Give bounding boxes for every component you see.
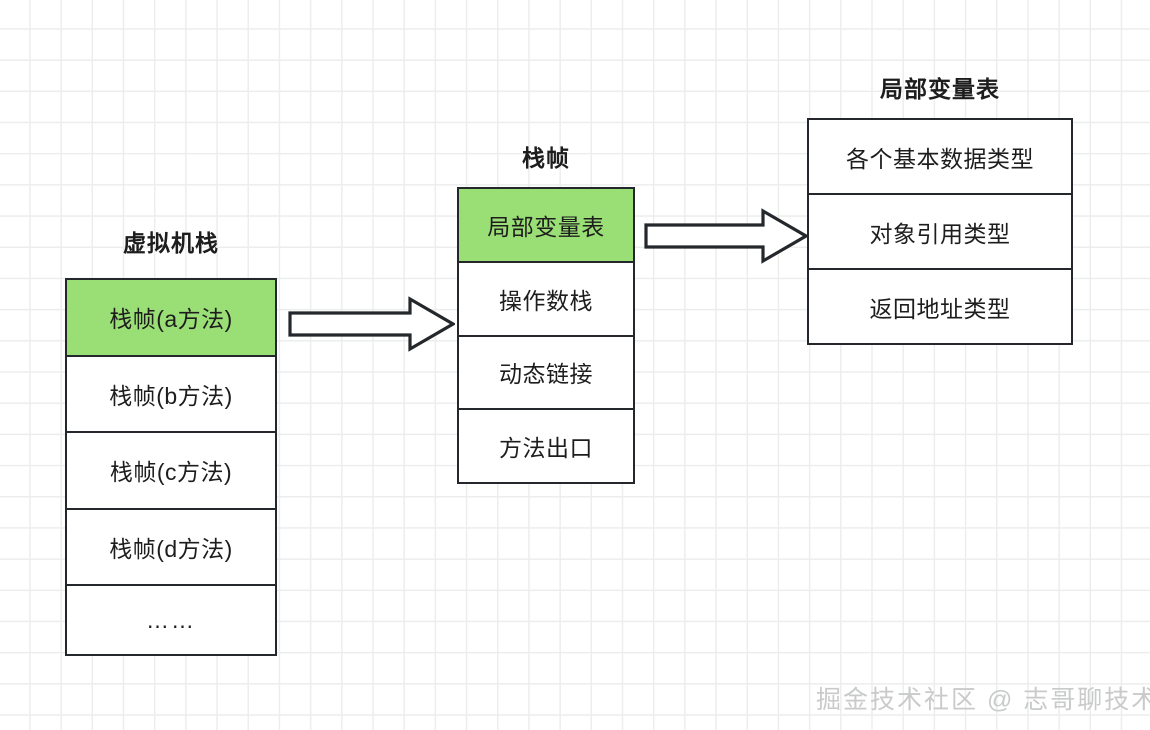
stack-frame-cell-3[interactable]: 方法出口 xyxy=(459,410,633,482)
stack-frame-cell-1[interactable]: 操作数栈 xyxy=(459,263,633,337)
vm-stack-cell-2[interactable]: 栈帧(c方法) xyxy=(67,433,275,510)
watermark: 掘金技术社区 @ 志哥聊技术 xyxy=(816,680,1150,716)
diagram-canvas: 虚拟机栈 栈帧(a方法) 栈帧(b方法) 栈帧(c方法) 栈帧(d方法) …… … xyxy=(0,0,1150,730)
stack-frame-title: 栈帧 xyxy=(457,139,635,173)
stack-frame-box: 局部变量表 操作数栈 动态链接 方法出口 xyxy=(457,187,635,484)
local-var-table-cell-0[interactable]: 各个基本数据类型 xyxy=(809,120,1071,195)
vm-stack-cell-1[interactable]: 栈帧(b方法) xyxy=(67,357,275,434)
vm-stack-cell-4[interactable]: …… xyxy=(67,586,275,654)
local-var-table-title: 局部变量表 xyxy=(807,70,1073,104)
vm-stack-title: 虚拟机栈 xyxy=(65,224,277,258)
vm-stack-cell-0[interactable]: 栈帧(a方法) xyxy=(67,280,275,357)
local-var-table-cell-2[interactable]: 返回地址类型 xyxy=(809,270,1071,343)
local-var-table-cell-1[interactable]: 对象引用类型 xyxy=(809,195,1071,270)
arrow-vmstack-to-frame xyxy=(288,296,455,352)
stack-frame-cell-0[interactable]: 局部变量表 xyxy=(459,189,633,263)
arrow-frame-to-localvartable xyxy=(644,208,808,264)
local-var-table-box: 各个基本数据类型 对象引用类型 返回地址类型 xyxy=(807,118,1073,345)
stack-frame-cell-2[interactable]: 动态链接 xyxy=(459,337,633,411)
vm-stack-cell-3[interactable]: 栈帧(d方法) xyxy=(67,510,275,587)
vm-stack-box: 栈帧(a方法) 栈帧(b方法) 栈帧(c方法) 栈帧(d方法) …… xyxy=(65,278,277,656)
